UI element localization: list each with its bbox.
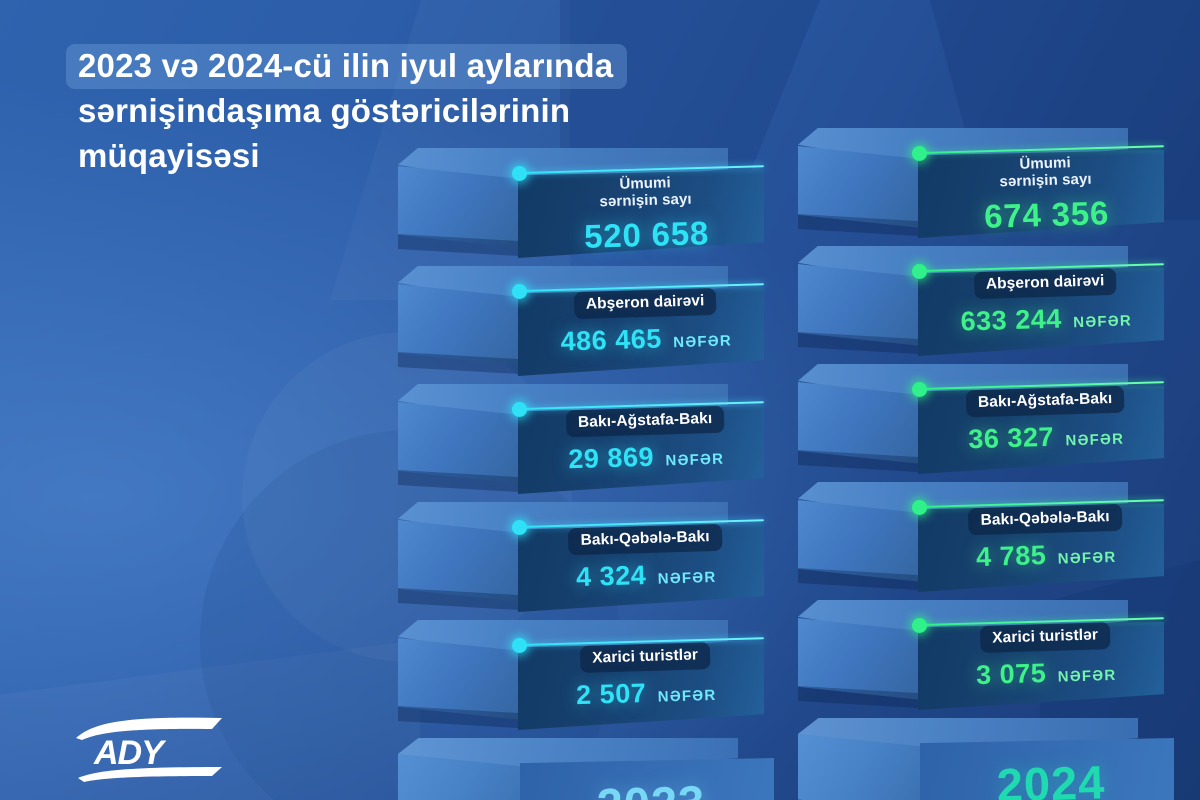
slab-content: Ümumi sərnişin sayı 520 658 bbox=[525, 168, 767, 259]
stat-label: Abşeron dairəvi bbox=[573, 288, 716, 319]
stat-label: Bakı-Qəbələ-Bakı bbox=[568, 524, 722, 556]
stat-value-row: 3 075 NƏFƏR bbox=[926, 654, 1167, 692]
stat-value: 486 465 bbox=[560, 324, 662, 357]
stat-unit: NƏFƏR bbox=[665, 451, 724, 470]
stat-value: 36 327 bbox=[968, 422, 1054, 455]
stat-value-row: 674 356 bbox=[926, 192, 1167, 237]
stat-value-row: 29 869 NƏFƏR bbox=[526, 438, 767, 476]
stat-value: 633 244 bbox=[960, 304, 1062, 337]
stat-value-row: 633 244 NƏFƏR bbox=[926, 300, 1167, 338]
stat-value-row: 4 785 NƏFƏR bbox=[926, 536, 1167, 574]
stat-unit: NƏFƏR bbox=[1058, 549, 1117, 568]
stat-label: Bakı-Ağstafa-Bakı bbox=[566, 406, 725, 438]
stat-label: Abşeron dairəvi bbox=[973, 268, 1116, 299]
slab-content: Abşeron dairəvi 633 244 NƏFƏR bbox=[925, 266, 1167, 357]
slab-content: Xarici turistlər 2 507 NƏFƏR bbox=[525, 640, 767, 731]
stat-value: 2 507 bbox=[576, 678, 647, 710]
slab-content: Bakı-Ağstafa-Bakı 29 869 NƏFƏR bbox=[525, 404, 767, 495]
ady-logo-icon: ADY bbox=[72, 712, 230, 784]
title-line-2: sərnişindaşıma göstəricilərinin bbox=[78, 89, 958, 134]
stat-value-row: 36 327 NƏFƏR bbox=[926, 418, 1167, 456]
stat-value-row: 486 465 NƏFƏR bbox=[526, 320, 767, 358]
stat-value: 3 075 bbox=[976, 658, 1047, 690]
stat-unit: NƏFƏR bbox=[673, 332, 732, 351]
ady-logo: ADY bbox=[72, 712, 230, 784]
stat-value: 4 324 bbox=[576, 560, 647, 592]
page-title: 2023 və 2024-cü ilin iyul aylarında sərn… bbox=[78, 44, 958, 179]
slab-content: Bakı-Ağstafa-Bakı 36 327 NƏFƏR bbox=[925, 384, 1167, 475]
stat-label: Xarici turistlər bbox=[980, 622, 1111, 653]
slab-content: Abşeron dairəvi 486 465 NƏFƏR bbox=[525, 286, 767, 377]
stat-label: Bakı-Ağstafa-Bakı bbox=[966, 386, 1125, 418]
stat-unit: NƏFƏR bbox=[658, 569, 717, 588]
year-label: 2024 bbox=[925, 738, 1177, 800]
stat-unit: NƏFƏR bbox=[1058, 667, 1117, 686]
year-label: 2023 bbox=[525, 758, 777, 800]
slab-content: Bakı-Qəbələ-Bakı 4 785 NƏFƏR bbox=[925, 502, 1167, 593]
stat-unit: NƏFƏR bbox=[1073, 312, 1132, 331]
background-circle bbox=[242, 332, 572, 662]
stat-label: Bakı-Qəbələ-Bakı bbox=[968, 504, 1122, 536]
ady-logo-text: ADY bbox=[93, 734, 167, 772]
stat-value: 520 658 bbox=[584, 214, 710, 255]
stat-value: 4 785 bbox=[976, 540, 1047, 572]
stat-unit: NƏFƏR bbox=[1065, 431, 1124, 450]
stat-value-row: 520 658 bbox=[526, 212, 767, 257]
stat-label: Xarici turistlər bbox=[580, 642, 711, 673]
title-line-3: müqayisəsi bbox=[78, 134, 958, 179]
stat-value-row: 4 324 NƏFƏR bbox=[526, 556, 767, 594]
slab-content: Bakı-Qəbələ-Bakı 4 324 NƏFƏR bbox=[525, 522, 767, 613]
stat-unit: NƏFƏR bbox=[658, 687, 717, 706]
slab-content: Xarici turistlər 3 075 NƏFƏR bbox=[925, 620, 1167, 711]
title-line-1: 2023 və 2024-cü ilin iyul aylarında bbox=[66, 44, 627, 89]
stat-value-row: 2 507 NƏFƏR bbox=[526, 674, 767, 712]
stat-value: 674 356 bbox=[984, 194, 1110, 235]
stat-value: 29 869 bbox=[568, 442, 654, 475]
slab-content: Ümumi sərnişin sayı 674 356 bbox=[925, 148, 1167, 239]
